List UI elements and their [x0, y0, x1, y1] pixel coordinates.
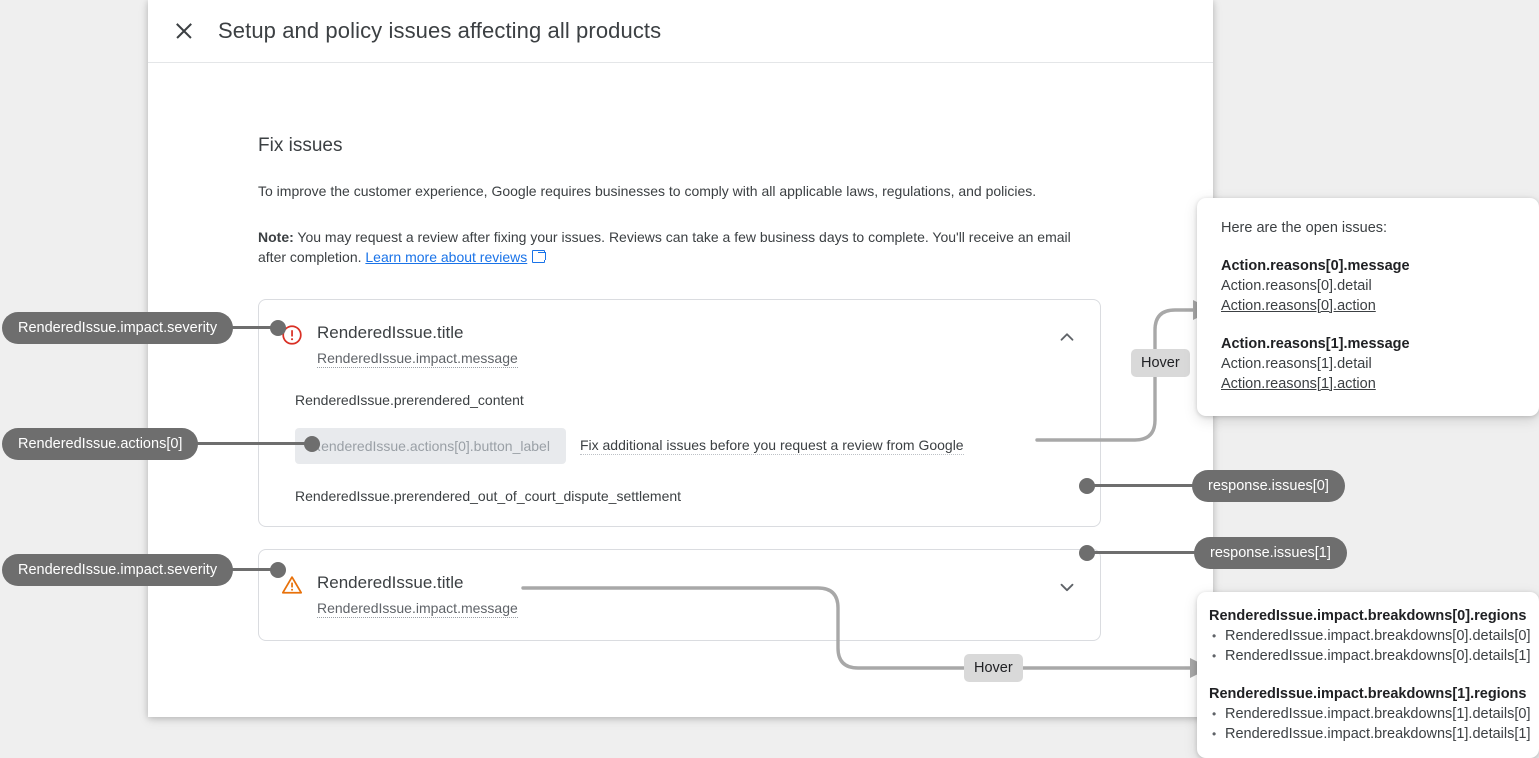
anchor-dot-actions-0	[304, 436, 320, 452]
tooltip-breakdown-detail: RenderedIssue.impact.breakdowns[0].detai…	[1209, 646, 1527, 666]
tooltip-breakdown-detail: RenderedIssue.impact.breakdowns[0].detai…	[1209, 626, 1527, 646]
tooltip-breakdown-regions: RenderedIssue.impact.breakdowns[0].regio…	[1209, 606, 1527, 626]
annotation-severity-1: RenderedIssue.impact.severity	[2, 554, 233, 586]
tooltip-reason-group: Action.reasons[1].message Action.reasons…	[1221, 334, 1515, 394]
dialog-body: Fix issues To improve the customer exper…	[148, 63, 1213, 641]
leader-actions-0	[178, 442, 318, 445]
chevron-down-icon[interactable]	[1056, 576, 1078, 598]
page-title: Setup and policy issues affecting all pr…	[218, 18, 661, 44]
dialog-header: Setup and policy issues affecting all pr…	[148, 0, 1213, 63]
issues-dialog: Setup and policy issues affecting all pr…	[148, 0, 1213, 717]
issue-card-1-header: RenderedIssue.title RenderedIssue.impact…	[259, 550, 1100, 640]
issue-card-0-body: RenderedIssue.prerendered_content Render…	[259, 392, 1100, 526]
issue-card-1[interactable]: RenderedIssue.title RenderedIssue.impact…	[258, 549, 1101, 641]
tooltip-reason-detail: Action.reasons[0].detail	[1221, 276, 1515, 296]
tooltip-breakdown-detail: RenderedIssue.impact.breakdowns[1].detai…	[1209, 724, 1527, 744]
learn-more-link[interactable]: Learn more about reviews	[365, 249, 527, 265]
tooltip-breakdown-regions: RenderedIssue.impact.breakdowns[1].regio…	[1209, 684, 1527, 704]
anchor-dot-issues-0	[1079, 478, 1095, 494]
tooltip-lead: Here are the open issues:	[1221, 220, 1515, 236]
tooltip-reason-detail: Action.reasons[1].detail	[1221, 354, 1515, 374]
issue-dispute-settlement: RenderedIssue.prerendered_out_of_court_d…	[295, 488, 1078, 504]
issue-card-0[interactable]: RenderedIssue.title RenderedIssue.impact…	[258, 299, 1101, 527]
section-title: Fix issues	[258, 135, 1213, 157]
issue-impact-message: RenderedIssue.impact.message	[317, 600, 518, 618]
note-paragraph: Note: You may request a review after fix…	[258, 227, 1096, 267]
anchor-dot-severity-1	[270, 562, 286, 578]
tooltip-breakdown-group: RenderedIssue.impact.breakdowns[1].regio…	[1209, 684, 1527, 744]
annotation-severity-0: RenderedIssue.impact.severity	[2, 312, 233, 344]
external-link-icon	[532, 250, 545, 263]
chevron-up-icon[interactable]	[1056, 326, 1078, 348]
tooltip-breakdown-group: RenderedIssue.impact.breakdowns[0].regio…	[1209, 606, 1527, 666]
annotation-actions-0: RenderedIssue.actions[0]	[2, 428, 198, 460]
tooltip-reason-group: Action.reasons[0].message Action.reasons…	[1221, 256, 1515, 316]
issue-card-1-text: RenderedIssue.title RenderedIssue.impact…	[317, 572, 1056, 618]
issue-title: RenderedIssue.title	[317, 572, 1056, 594]
issue-prerendered-content: RenderedIssue.prerendered_content	[295, 392, 1078, 408]
tooltip-reason-action[interactable]: Action.reasons[1].action	[1221, 374, 1515, 394]
issue-title: RenderedIssue.title	[317, 322, 1056, 344]
issue-card-0-header: RenderedIssue.title RenderedIssue.impact…	[259, 300, 1100, 368]
hover-badge-bottom: Hover	[964, 654, 1023, 682]
leader-issues-1	[1092, 551, 1210, 554]
anchor-dot-issues-1	[1079, 545, 1095, 561]
anchor-dot-severity-0	[270, 320, 286, 336]
intro-paragraph: To improve the customer experience, Goog…	[258, 181, 1096, 201]
issue-card-0-text: RenderedIssue.title RenderedIssue.impact…	[317, 322, 1056, 368]
issue-action-side-note: Fix additional issues before you request…	[580, 437, 964, 455]
warning-triangle-icon	[281, 574, 303, 596]
tooltip-reason-message: Action.reasons[1].message	[1221, 334, 1515, 354]
tooltip-reason-message: Action.reasons[0].message	[1221, 256, 1515, 276]
issue-impact-message: RenderedIssue.impact.message	[317, 350, 518, 368]
annotation-issues-0: response.issues[0]	[1192, 470, 1345, 502]
close-icon[interactable]	[172, 19, 196, 43]
hover-badge-top: Hover	[1131, 349, 1190, 377]
annotation-issues-1: response.issues[1]	[1194, 537, 1347, 569]
tooltip-open-issues: Here are the open issues: Action.reasons…	[1197, 198, 1539, 416]
tooltip-reason-action[interactable]: Action.reasons[0].action	[1221, 296, 1515, 316]
tooltip-impact-breakdowns: RenderedIssue.impact.breakdowns[0].regio…	[1197, 592, 1539, 758]
page-root: Setup and policy issues affecting all pr…	[0, 0, 1539, 752]
issue-action-button[interactable]: RenderedIssue.actions[0].button_label	[295, 428, 566, 464]
tooltip-breakdown-detail: RenderedIssue.impact.breakdowns[1].detai…	[1209, 704, 1527, 724]
issue-action-row: RenderedIssue.actions[0].button_label Fi…	[295, 428, 1078, 464]
note-label: Note:	[258, 229, 294, 245]
